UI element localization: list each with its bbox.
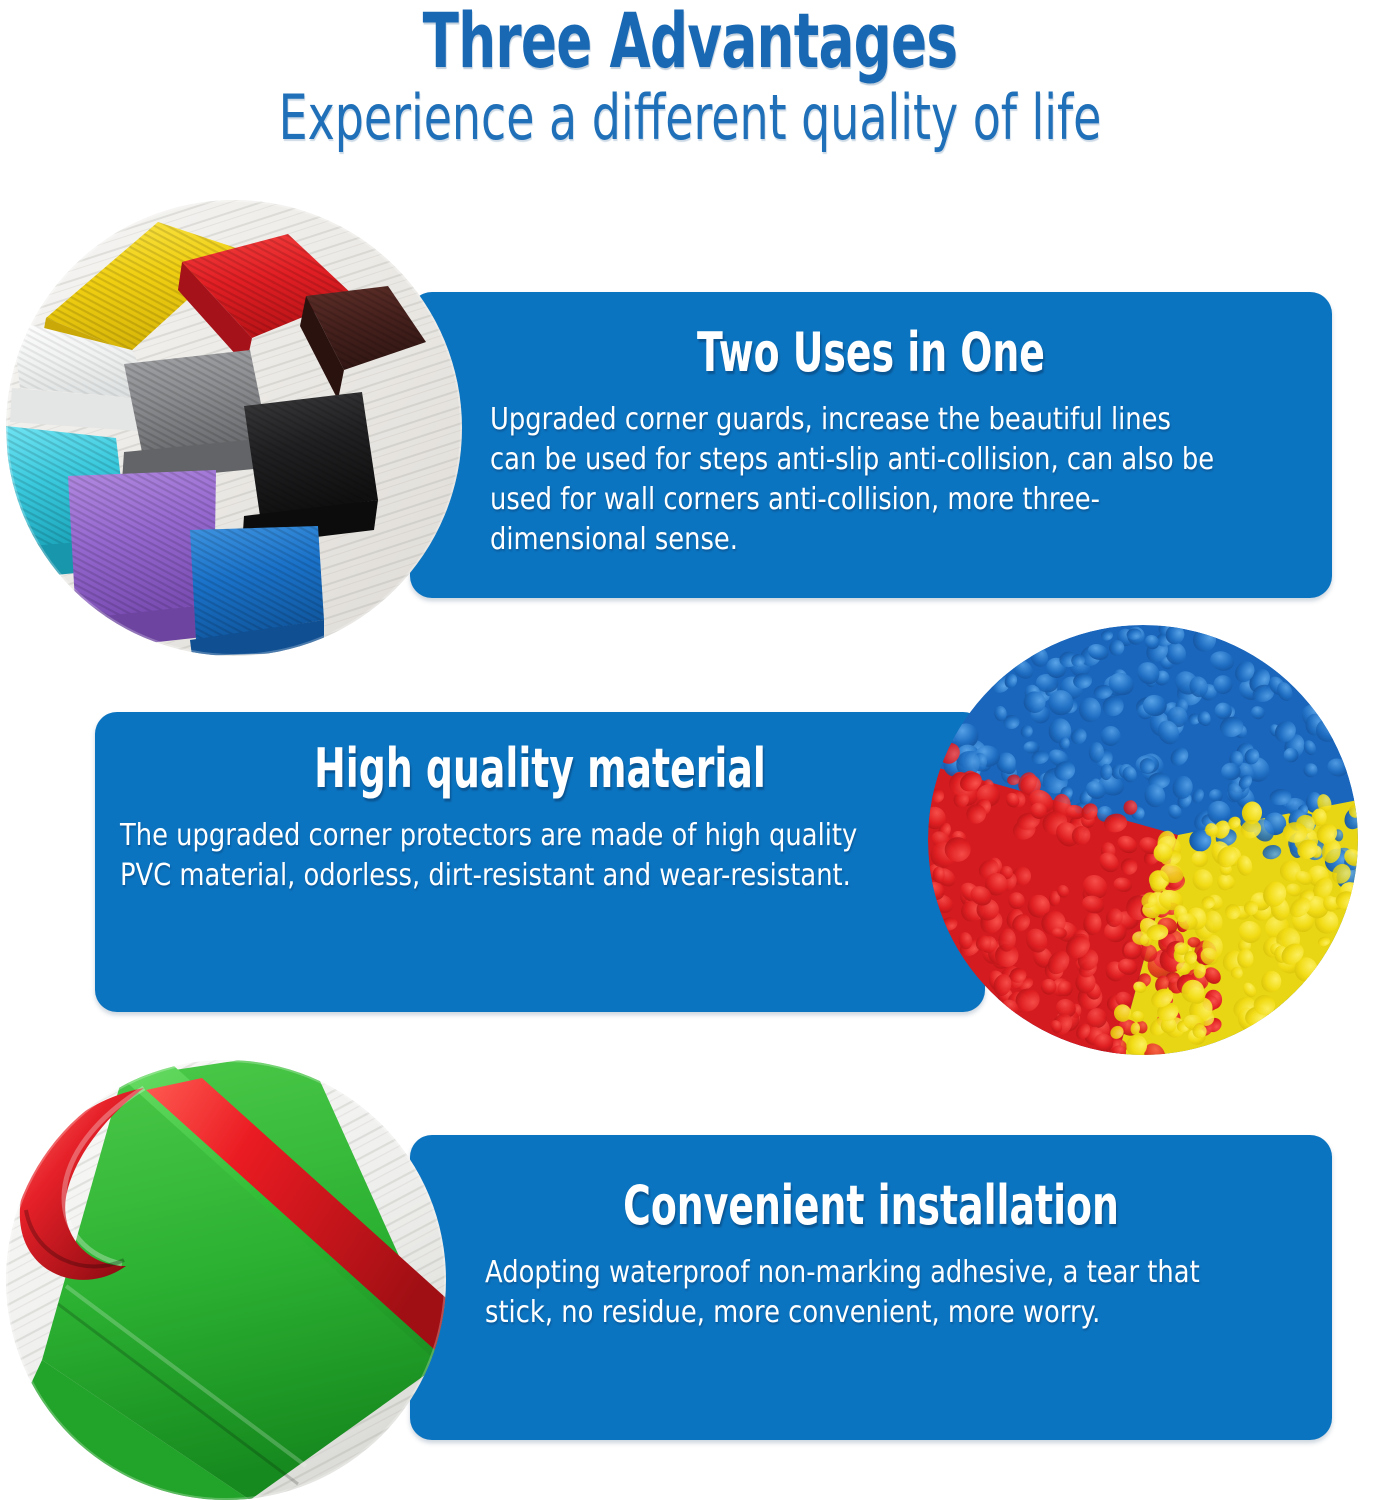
advantage-panel-1: Two Uses in One Upgraded corner guards, …: [410, 292, 1332, 598]
pvc-pellets-illustration: [928, 625, 1358, 1055]
adhesive-peel-photo: [6, 1060, 446, 1500]
advantage-1-body: Upgraded corner guards, increase the bea…: [490, 400, 1221, 560]
advantage-panel-1-content: Two Uses in One Upgraded corner guards, …: [410, 292, 1332, 598]
advantage-panel-3: Convenient installation Adopting waterpr…: [410, 1135, 1332, 1440]
advantage-2-body: The upgraded corner protectors are made …: [120, 816, 894, 896]
advantage-panel-2-content: High quality material The upgraded corne…: [95, 712, 985, 1012]
advantage-3-heading: Convenient installation: [548, 1177, 1193, 1235]
corner-guards-illustration: [6, 200, 462, 656]
advantage-3-body: Adopting waterproof non-marking adhesive…: [485, 1253, 1233, 1333]
advantage-1-heading: Two Uses in One: [548, 324, 1193, 382]
page-title: Three Advantages: [207, 2, 1173, 80]
pvc-resin-pellets-photo: [928, 625, 1358, 1055]
adhesive-peel-illustration: [6, 1060, 446, 1500]
header: Three Advantages Experience a different …: [0, 0, 1380, 190]
advantage-2-heading: High quality material: [229, 740, 852, 798]
advantage-panel-2: High quality material The upgraded corne…: [95, 712, 985, 1012]
advantage-panel-3-content: Convenient installation Adopting waterpr…: [410, 1135, 1332, 1440]
colored-corner-guards-photo: [6, 200, 462, 656]
page-subtitle: Experience a different quality of life: [179, 86, 1200, 150]
